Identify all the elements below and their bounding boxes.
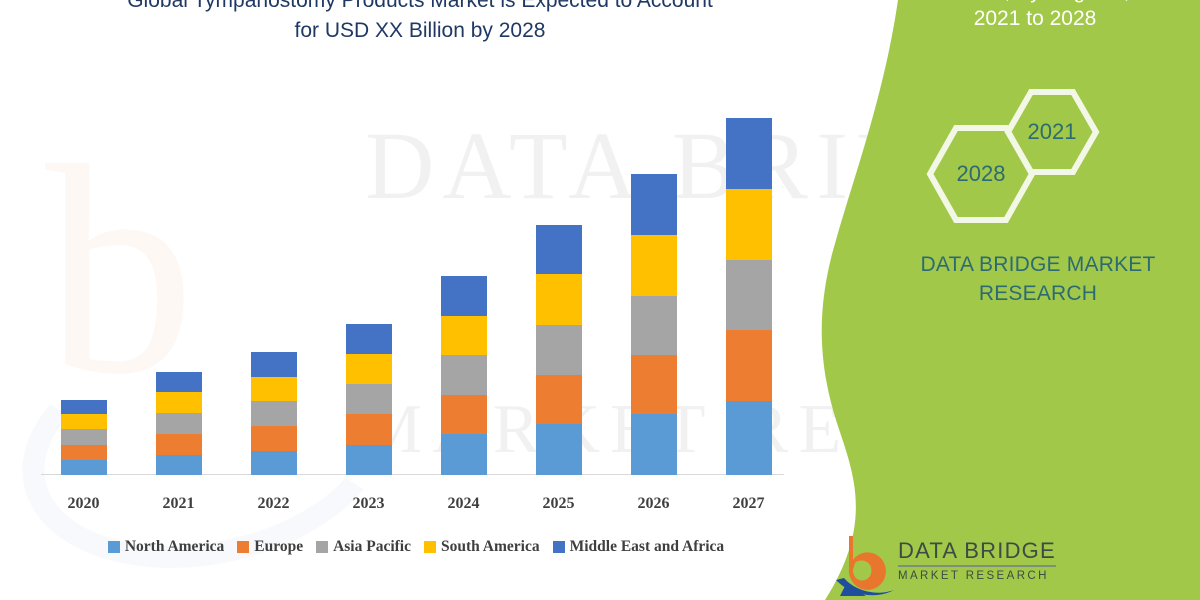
- logo: DATA BRIDGE MARKET RESEARCH: [836, 534, 1076, 600]
- bar-segment: [251, 426, 297, 450]
- legend-label: Asia Pacific: [333, 538, 411, 556]
- legend-item[interactable]: Asia Pacific: [316, 538, 411, 556]
- bar-column: [134, 110, 224, 475]
- legend-item[interactable]: Middle East and Africa: [553, 538, 725, 556]
- stacked-bar[interactable]: [346, 324, 392, 475]
- brand-panel: Market, By Regions, 2021 to 2028 2028 20…: [780, 0, 1200, 600]
- bar-column: [609, 110, 699, 475]
- bar-segment: [346, 384, 392, 414]
- stacked-bar[interactable]: [441, 276, 487, 475]
- bar-segment: [631, 296, 677, 356]
- logo-wordmark: DATA BRIDGE MARKET RESEARCH: [898, 538, 1078, 582]
- bar-segment: [536, 375, 582, 425]
- bar-column: [229, 110, 319, 475]
- x-axis-tick-label: 2025: [514, 495, 604, 513]
- legend-swatch: [316, 541, 328, 553]
- bar-segment: [156, 372, 202, 392]
- hexagon-2028-label: 2028: [957, 161, 1006, 187]
- bar-segment: [536, 225, 582, 275]
- stacked-bar[interactable]: [631, 174, 677, 475]
- legend-item[interactable]: Europe: [237, 538, 303, 556]
- bar-segment: [536, 274, 582, 325]
- x-axis-labels: 20202021202220232024202520262027: [36, 495, 796, 513]
- bar-segment: [536, 424, 582, 475]
- bar-segment: [346, 414, 392, 444]
- legend-item[interactable]: North America: [108, 538, 224, 556]
- legend-label: Europe: [254, 538, 303, 556]
- legend-item[interactable]: South America: [424, 538, 540, 556]
- hexagon-group: 2028 2021: [902, 92, 1142, 227]
- bar-segment: [251, 451, 297, 475]
- chart-legend: North AmericaEuropeAsia PacificSouth Ame…: [36, 538, 796, 556]
- legend-swatch: [424, 541, 436, 553]
- bar-column: [514, 110, 604, 475]
- legend-label: Middle East and Africa: [570, 538, 725, 556]
- chart-plot-area: [36, 110, 796, 475]
- stacked-bar[interactable]: [536, 225, 582, 475]
- legend-label: South America: [441, 538, 540, 556]
- logo-line-1: DATA BRIDGE: [898, 538, 1056, 567]
- bar-segment: [441, 434, 487, 475]
- infographic-canvas: b DATA BRIDGE MARKET RESEARCH Global Tym…: [0, 0, 1200, 600]
- bar-segment: [156, 413, 202, 434]
- stacked-bar[interactable]: [61, 400, 107, 475]
- bar-segment: [251, 352, 297, 376]
- x-axis-tick-label: 2020: [39, 495, 129, 513]
- stacked-bar-chart: [36, 110, 796, 485]
- bar-segment: [536, 325, 582, 375]
- bar-segment: [726, 260, 772, 330]
- stacked-bar[interactable]: [156, 372, 202, 475]
- bar-segment: [631, 414, 677, 475]
- bar-segment: [251, 377, 297, 401]
- logo-line-2: MARKET RESEARCH: [898, 570, 1078, 582]
- bar-column: [419, 110, 509, 475]
- bar-segment: [61, 429, 107, 444]
- x-axis-tick-label: 2021: [134, 495, 224, 513]
- legend-swatch: [553, 541, 565, 553]
- bar-segment: [156, 434, 202, 454]
- x-axis-tick-label: 2023: [324, 495, 414, 513]
- bar-column: [39, 110, 129, 475]
- bar-segment: [61, 400, 107, 414]
- bar-segment: [156, 392, 202, 413]
- bar-column: [324, 110, 414, 475]
- bar-segment: [61, 445, 107, 460]
- bar-segment: [61, 460, 107, 475]
- bar-segment: [726, 189, 772, 260]
- bar-segment: [251, 401, 297, 426]
- legend-swatch: [237, 541, 249, 553]
- bar-segment: [631, 355, 677, 414]
- x-axis-tick-label: 2022: [229, 495, 319, 513]
- bar-segment: [156, 455, 202, 475]
- legend-label: North America: [125, 538, 224, 556]
- bar-segment: [346, 445, 392, 475]
- bar-segment: [726, 118, 772, 189]
- x-axis-tick-label: 2024: [419, 495, 509, 513]
- bar-segment: [346, 354, 392, 383]
- bar-segment: [726, 401, 772, 475]
- page-title: Global Tympanostomy Products Market is E…: [40, 0, 800, 46]
- bar-segment: [631, 174, 677, 235]
- bar-segment: [726, 330, 772, 401]
- stacked-bar[interactable]: [251, 352, 297, 475]
- legend-swatch: [108, 541, 120, 553]
- bar-segment: [441, 316, 487, 356]
- hexagon-2021: 2021: [1004, 88, 1100, 176]
- bar-segment: [441, 355, 487, 395]
- brand-name: DATA BRIDGE MARKET RESEARCH: [888, 250, 1188, 308]
- bar-segment: [346, 324, 392, 354]
- hexagon-2021-label: 2021: [1028, 119, 1077, 145]
- bar-segment: [441, 276, 487, 316]
- stacked-bar[interactable]: [726, 118, 772, 475]
- bar-segment: [61, 414, 107, 429]
- panel-title: Market, By Regions, 2021 to 2028: [870, 0, 1200, 32]
- x-axis-tick-label: 2026: [609, 495, 699, 513]
- bar-segment: [441, 395, 487, 435]
- bar-segment: [631, 235, 677, 296]
- logo-mark-icon: [836, 534, 894, 596]
